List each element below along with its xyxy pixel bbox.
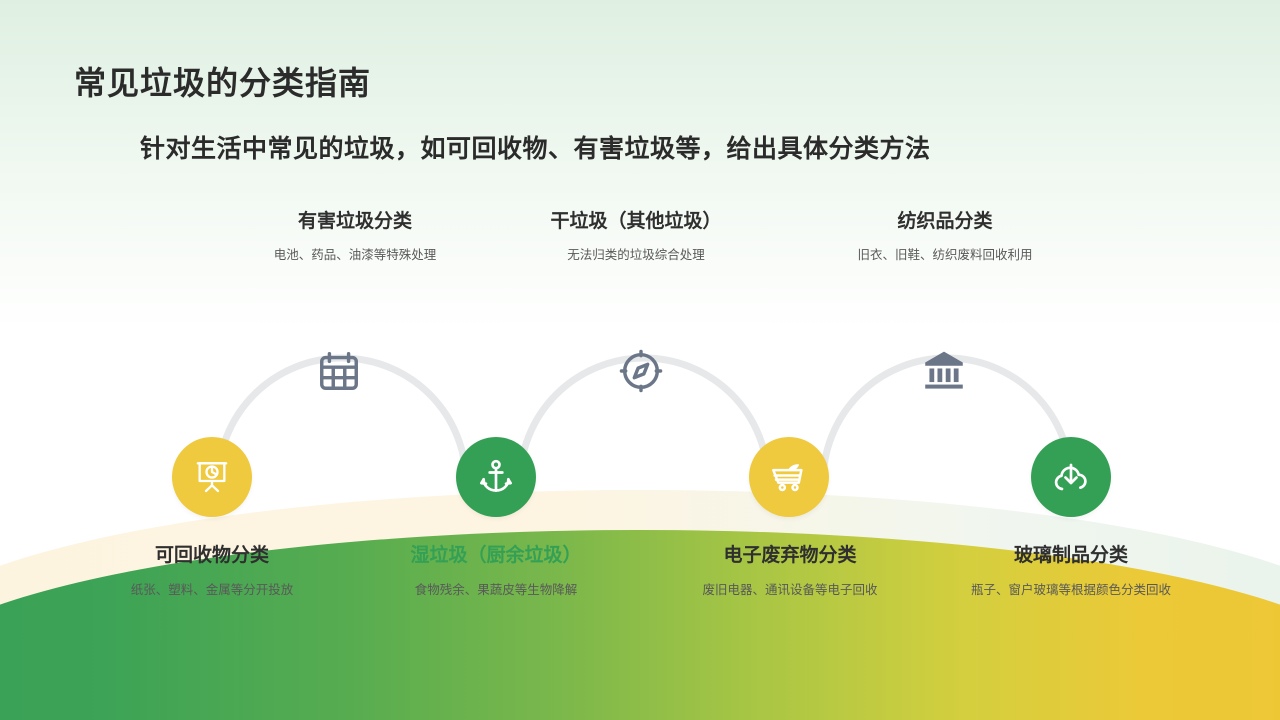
bank-icon — [921, 347, 967, 393]
shopping-cart-icon — [769, 457, 809, 497]
bottom-item-title: 玻璃制品分类 — [901, 540, 1241, 567]
anchor-icon — [476, 457, 516, 497]
page-subtitle: 针对生活中常见的垃圾，如可回收物、有害垃圾等，给出具体分类方法 — [140, 129, 931, 165]
top-item-title: 纺织品分类 — [785, 206, 1105, 233]
slide-canvas: 常见垃圾的分类指南 针对生活中常见的垃圾，如可回收物、有害垃圾等，给出具体分类方… — [0, 0, 1280, 720]
bottom-item-wet-waste[interactable]: 湿垃圾（厨余垃圾） 食物残余、果蔬皮等生物降解 — [326, 540, 666, 598]
bottom-item-desc: 瓶子、窗户玻璃等根据颜色分类回收 — [901, 579, 1241, 598]
top-item-title: 干垃圾（其他垃圾） — [476, 206, 796, 233]
calendar-icon — [316, 348, 362, 394]
top-items-group: 有害垃圾分类 电池、药品、油漆等特殊处理 干垃圾（其他垃圾） 无法归类的垃圾综合… — [0, 206, 1280, 286]
node-circle-recyclable[interactable] — [172, 437, 252, 517]
node-circle-ewaste[interactable] — [749, 437, 829, 517]
top-item-dry-waste[interactable]: 干垃圾（其他垃圾） 无法归类的垃圾综合处理 — [476, 206, 796, 263]
bottom-items-group: 可回收物分类 纸张、塑料、金属等分开投放 湿垃圾（厨余垃圾） 食物残余、果蔬皮等… — [0, 540, 1280, 620]
top-item-harmful[interactable]: 有害垃圾分类 电池、药品、油漆等特殊处理 — [195, 206, 515, 263]
node-circle-wet-waste[interactable] — [456, 437, 536, 517]
top-item-desc: 无法归类的垃圾综合处理 — [476, 244, 796, 263]
page-title: 常见垃圾的分类指南 — [74, 58, 371, 104]
bottom-item-desc: 食物残余、果蔬皮等生物降解 — [326, 579, 666, 598]
top-item-desc: 旧衣、旧鞋、纺织废料回收利用 — [785, 244, 1105, 263]
top-item-textile[interactable]: 纺织品分类 旧衣、旧鞋、纺织废料回收利用 — [785, 206, 1105, 263]
top-item-title: 有害垃圾分类 — [195, 206, 515, 233]
top-item-desc: 电池、药品、油漆等特殊处理 — [195, 244, 515, 263]
compass-icon — [618, 348, 664, 394]
cloud-download-icon — [1051, 457, 1091, 497]
bottom-item-title: 湿垃圾（厨余垃圾） — [326, 540, 666, 567]
node-circle-glass[interactable] — [1031, 437, 1111, 517]
presentation-chart-icon — [192, 457, 232, 497]
bottom-item-glass[interactable]: 玻璃制品分类 瓶子、窗户玻璃等根据颜色分类回收 — [901, 540, 1241, 598]
